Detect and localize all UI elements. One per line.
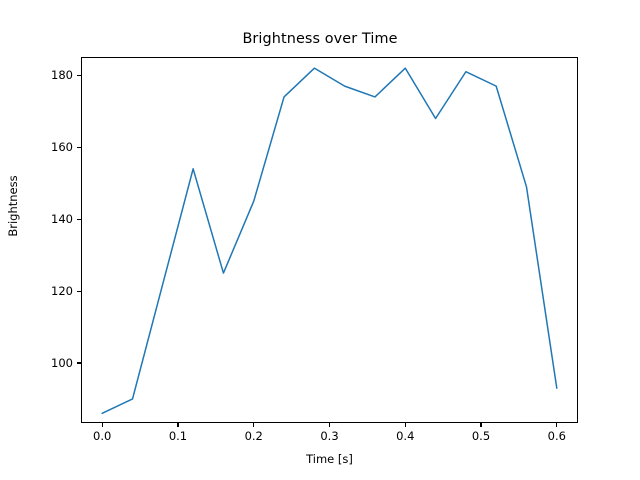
chart-title: Brightness over Time — [0, 31, 640, 47]
x-tick-label: 0.4 — [375, 429, 435, 443]
x-tick-mark — [480, 423, 481, 427]
y-tick-label: 180 — [13, 68, 73, 82]
x-tick-label: 0.3 — [300, 429, 360, 443]
x-tick-label: 0.0 — [72, 429, 132, 443]
x-tick-label: 0.5 — [451, 429, 511, 443]
x-tick-label: 0.6 — [527, 429, 587, 443]
y-tick-mark — [77, 147, 81, 148]
x-tick-label: 0.1 — [148, 429, 208, 443]
y-tick-mark — [77, 219, 81, 220]
y-tick-mark — [77, 291, 81, 292]
line-series-brightness — [81, 57, 578, 423]
x-tick-label: 0.2 — [224, 429, 284, 443]
y-tick-mark — [77, 75, 81, 76]
y-tick-mark — [77, 362, 81, 363]
x-tick-mark — [102, 423, 103, 427]
y-tick-label: 100 — [13, 356, 73, 370]
y-tick-label: 120 — [13, 284, 73, 298]
x-tick-mark — [177, 423, 178, 427]
x-tick-mark — [253, 423, 254, 427]
y-tick-label: 140 — [13, 212, 73, 226]
x-tick-mark — [405, 423, 406, 427]
data-line-path — [102, 68, 557, 413]
plot-area — [81, 57, 578, 423]
y-tick-label: 160 — [13, 140, 73, 154]
y-axis-label: Brightness — [6, 96, 20, 316]
chart-figure: Brightness over Time 100120140160180 0.0… — [0, 0, 640, 480]
x-axis-label: Time [s] — [81, 452, 578, 466]
x-tick-mark — [556, 423, 557, 427]
x-tick-mark — [329, 423, 330, 427]
